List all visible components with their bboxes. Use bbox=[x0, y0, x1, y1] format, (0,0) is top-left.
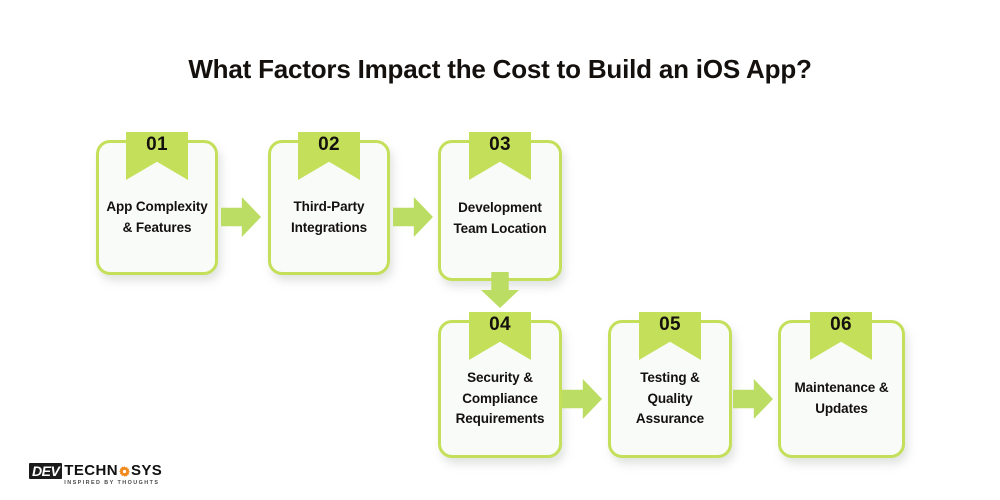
logo-tagline: INSPIRED BY THOUGHTS bbox=[64, 479, 162, 487]
devtechnosys-logo: DEV TECHN SYS INSPIRED BY THOUGHTS bbox=[29, 463, 162, 487]
step-number-04: 04 bbox=[469, 314, 531, 336]
arrow-right-4-5 bbox=[562, 379, 602, 419]
logo-word-end: SYS bbox=[131, 463, 162, 478]
step-card-03-label: Development Team Location bbox=[441, 198, 559, 239]
step-number-02: 02 bbox=[298, 134, 360, 156]
step-number-01: 01 bbox=[126, 134, 188, 156]
step-card-01-label: App Complexity & Features bbox=[99, 197, 215, 238]
infographic-canvas: What Factors Impact the Cost to Build an… bbox=[0, 0, 1000, 500]
logo-dev-badge: DEV bbox=[29, 463, 62, 479]
logo-word-start: TECHN bbox=[64, 463, 118, 478]
logo-wordmark: TECHN SYS bbox=[64, 463, 162, 478]
arrow-right-1-2 bbox=[221, 197, 261, 237]
step-card-05-label: Testing & Quality Assurance bbox=[611, 368, 729, 430]
step-card-02-label: Third-Party Integrations bbox=[271, 197, 387, 238]
step-number-05: 05 bbox=[639, 314, 701, 336]
logo-wordmark-group: TECHN SYS INSPIRED BY THOUGHTS bbox=[64, 463, 162, 487]
step-card-06-label: Maintenance & Updates bbox=[781, 378, 902, 419]
arrow-right-2-3 bbox=[393, 197, 433, 237]
arrow-right-5-6 bbox=[733, 379, 773, 419]
page-title: What Factors Impact the Cost to Build an… bbox=[0, 52, 1000, 86]
gear-icon bbox=[119, 465, 130, 476]
step-number-06: 06 bbox=[810, 314, 872, 336]
step-card-04-label: Security & Compliance Requirements bbox=[441, 368, 559, 430]
step-number-03: 03 bbox=[469, 134, 531, 156]
